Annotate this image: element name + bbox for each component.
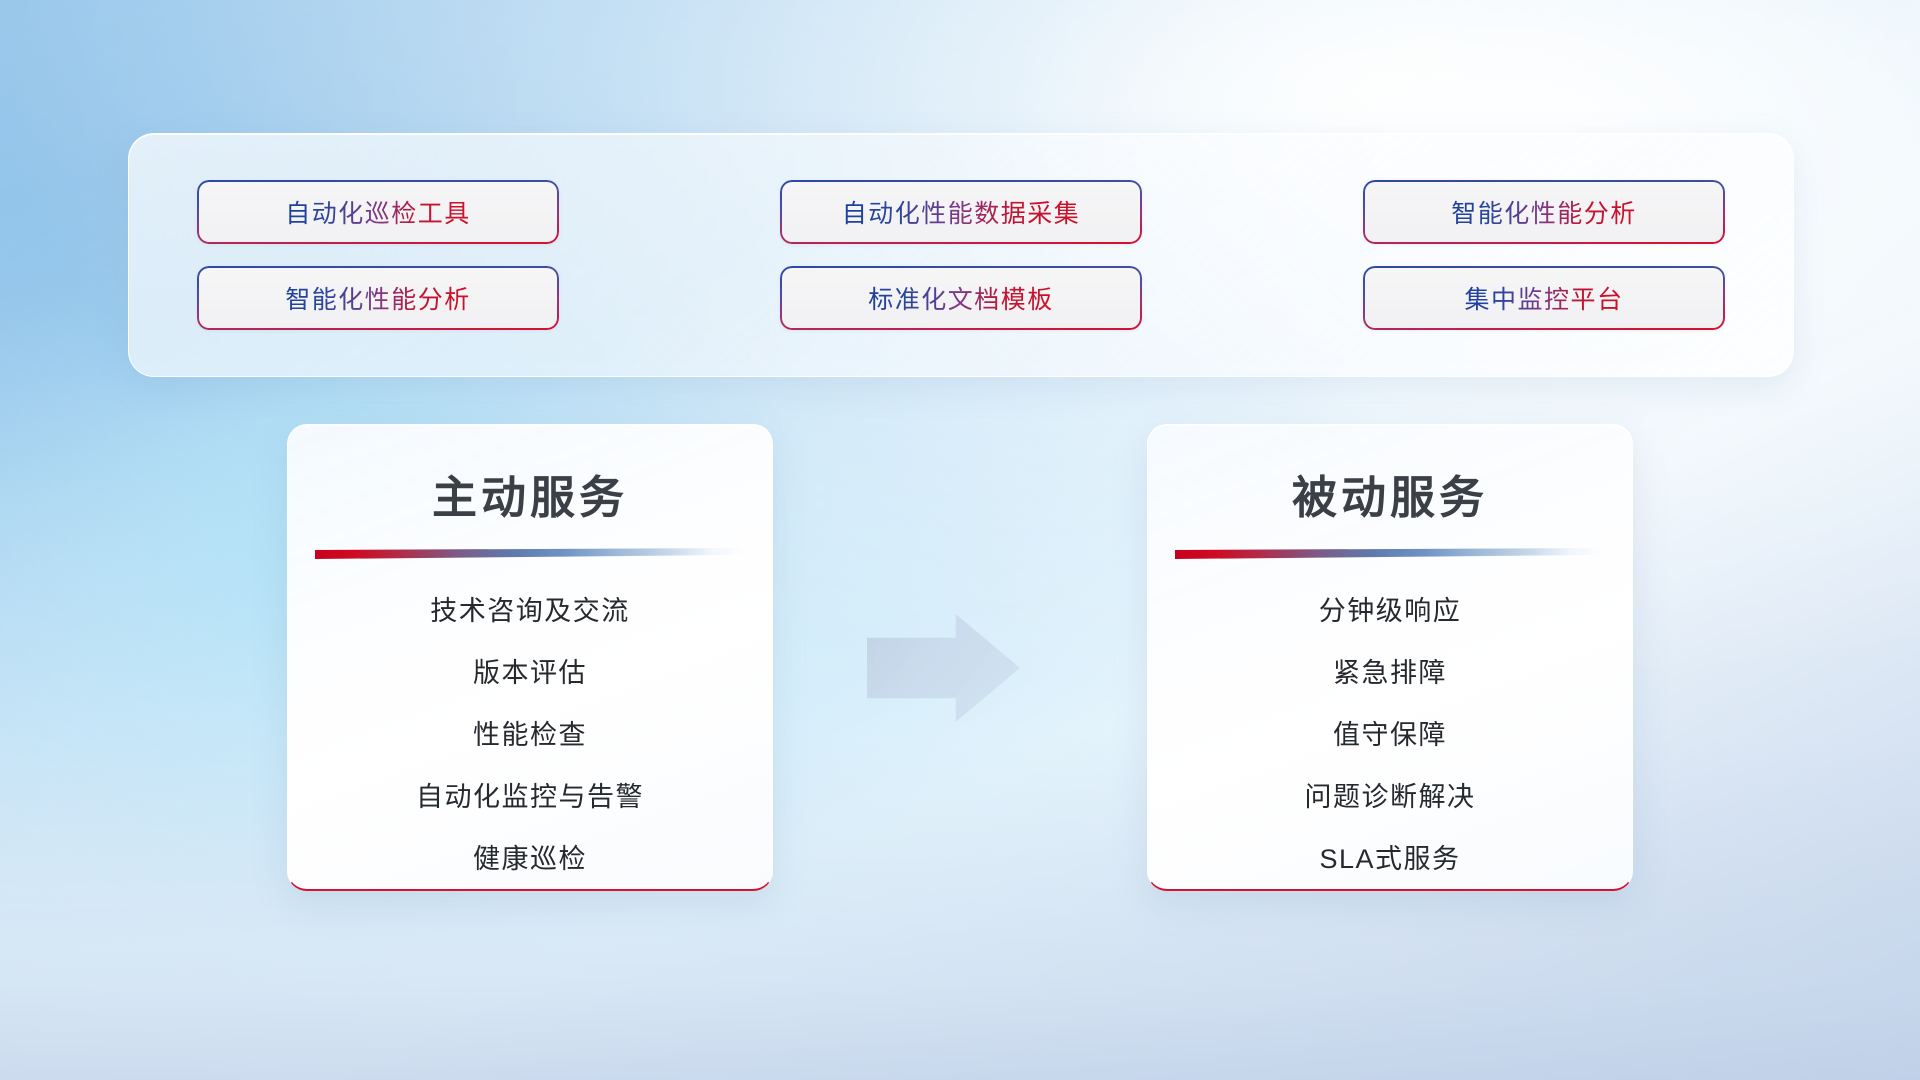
capability-chip-label: 标准化文档模板 (868, 280, 1054, 316)
title-divider (315, 548, 745, 559)
service-card-reactive: 被动服务 分钟级响应 紧急排障 值守保障 问题诊断解决 SLA式服务 (1147, 424, 1633, 891)
service-card-proactive: 主动服务 技术咨询及交流 版本评估 性能检查 自动化监控与告警 健康巡检 (287, 424, 773, 891)
capability-chip-label: 自动化巡检工具 (285, 194, 471, 230)
service-list-item: 问题诊断解决 (1305, 775, 1476, 814)
capability-chip-label: 智能化性能分析 (1451, 194, 1637, 230)
service-item-list: 分钟级响应 紧急排障 值守保障 问题诊断解决 SLA式服务 (1148, 589, 1632, 876)
service-item-list: 技术咨询及交流 版本评估 性能检查 自动化监控与告警 健康巡检 (288, 589, 772, 876)
capability-chip-label: 智能化性能分析 (285, 280, 471, 316)
service-list-item: 健康巡检 (473, 837, 587, 876)
service-list-item: 紧急排障 (1333, 651, 1447, 690)
arrow-right-icon (867, 614, 1020, 722)
capability-row-1: 自动化巡检工具 自动化性能数据采集 智能化性能分析 (197, 180, 1725, 244)
service-card-title: 主动服务 (288, 461, 772, 526)
service-list-item: 分钟级响应 (1319, 589, 1462, 628)
capability-chip-intelligent-performance-analysis-2[interactable]: 智能化性能分析 (197, 266, 559, 330)
service-list-item: 性能检查 (473, 713, 587, 752)
diagram-stage: 自动化巡检工具 自动化性能数据采集 智能化性能分析 智能化性能分析 标准化文档模… (0, 0, 1920, 1080)
capability-chip-label: 自动化性能数据采集 (842, 194, 1081, 230)
capability-row-2: 智能化性能分析 标准化文档模板 集中监控平台 (197, 266, 1725, 330)
capability-chip-automated-performance-data-collection[interactable]: 自动化性能数据采集 (780, 180, 1142, 244)
capability-panel: 自动化巡检工具 自动化性能数据采集 智能化性能分析 智能化性能分析 标准化文档模… (128, 133, 1794, 377)
service-card-title: 被动服务 (1148, 461, 1632, 526)
service-list-item: 值守保障 (1333, 713, 1447, 752)
capability-chip-label: 集中监控平台 (1464, 280, 1623, 316)
title-divider (1175, 548, 1605, 559)
service-list-item: SLA式服务 (1319, 837, 1460, 876)
service-list-item: 自动化监控与告警 (416, 775, 644, 814)
service-list-item: 技术咨询及交流 (430, 589, 630, 628)
capability-chip-centralized-monitoring-platform[interactable]: 集中监控平台 (1363, 266, 1725, 330)
capability-chip-standardized-document-template[interactable]: 标准化文档模板 (780, 266, 1142, 330)
capability-chip-automated-inspection-tool[interactable]: 自动化巡检工具 (197, 180, 559, 244)
service-list-item: 版本评估 (473, 651, 587, 690)
capability-chip-intelligent-performance-analysis[interactable]: 智能化性能分析 (1363, 180, 1725, 244)
